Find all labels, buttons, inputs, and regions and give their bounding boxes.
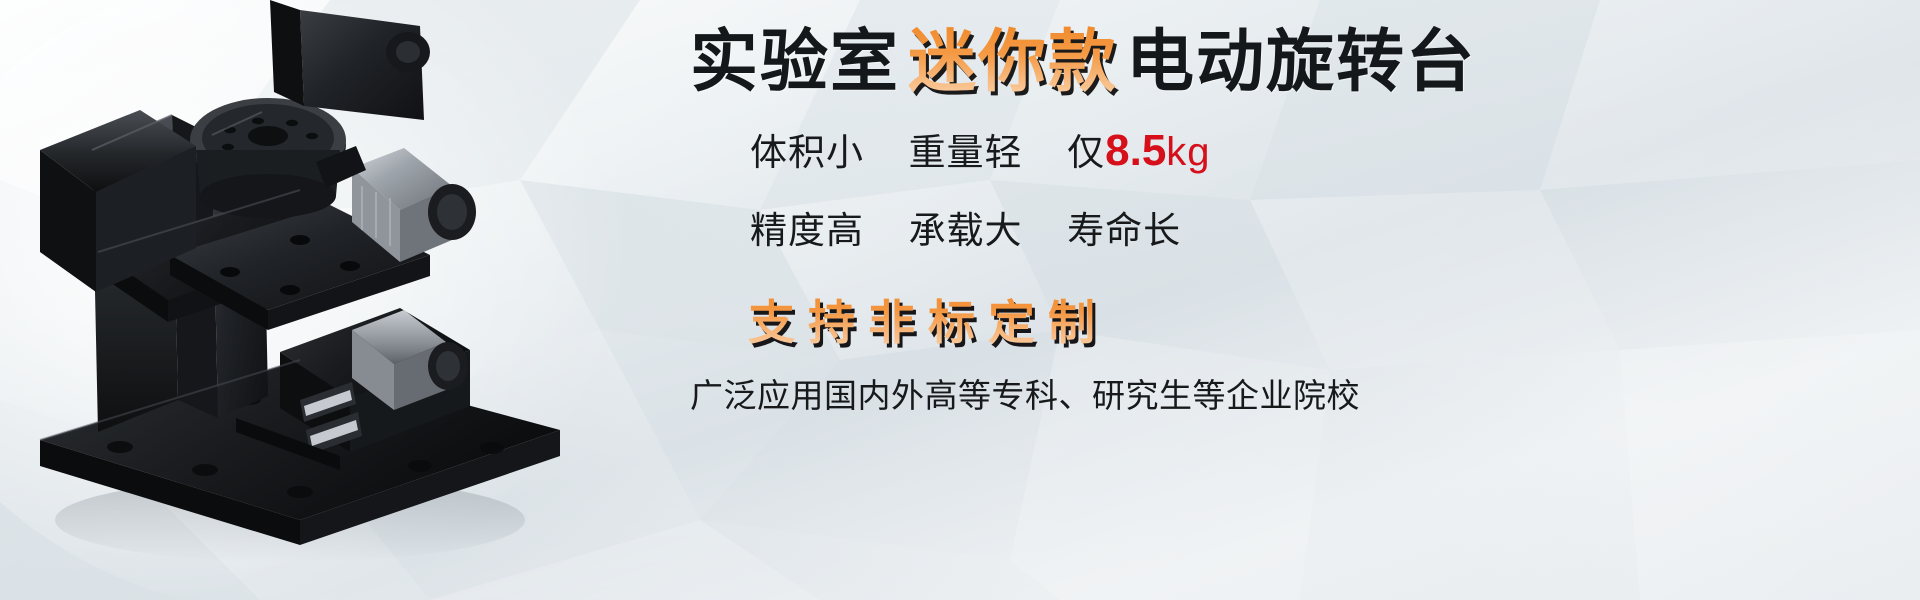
spec-line-performance: 精度高 承载大 寿命长 — [680, 200, 1920, 254]
product-image — [0, 0, 660, 600]
tagline: 广泛应用国内外高等专科、研究生等企业院校 — [680, 369, 1920, 417]
spec-high-precision: 精度高 — [750, 210, 864, 251]
spec-only-label: 仅 — [1067, 132, 1105, 173]
spec-line-weight: 体积小 重量轻 仅8.5kg — [680, 122, 1920, 176]
copy-block: 实验室迷你款电动旋转台 体积小 重量轻 仅8.5kg 精度高 承载大 寿命长 支… — [680, 0, 1920, 600]
spec-light-weight: 重量轻 — [909, 132, 1023, 173]
rotary-stage-illustration — [0, 0, 660, 600]
page-title: 实验室迷你款电动旋转台 — [680, 28, 1920, 96]
spec-volume-small: 体积小 — [750, 132, 864, 173]
headline-part-2: 电动旋转台 — [1126, 24, 1476, 100]
product-banner: 实验室迷你款电动旋转台 体积小 重量轻 仅8.5kg 精度高 承载大 寿命长 支… — [0, 0, 1920, 600]
spec-high-load: 承载大 — [909, 210, 1023, 251]
headline-accent: 迷你款 — [900, 24, 1126, 100]
weight-value: 8.5 — [1105, 126, 1166, 175]
spec-long-life: 寿命长 — [1067, 210, 1181, 251]
weight-unit: kg — [1166, 130, 1210, 174]
headline-part-1: 实验室 — [690, 24, 900, 100]
custom-order-highlight: 支持非标定制 — [680, 284, 1920, 353]
